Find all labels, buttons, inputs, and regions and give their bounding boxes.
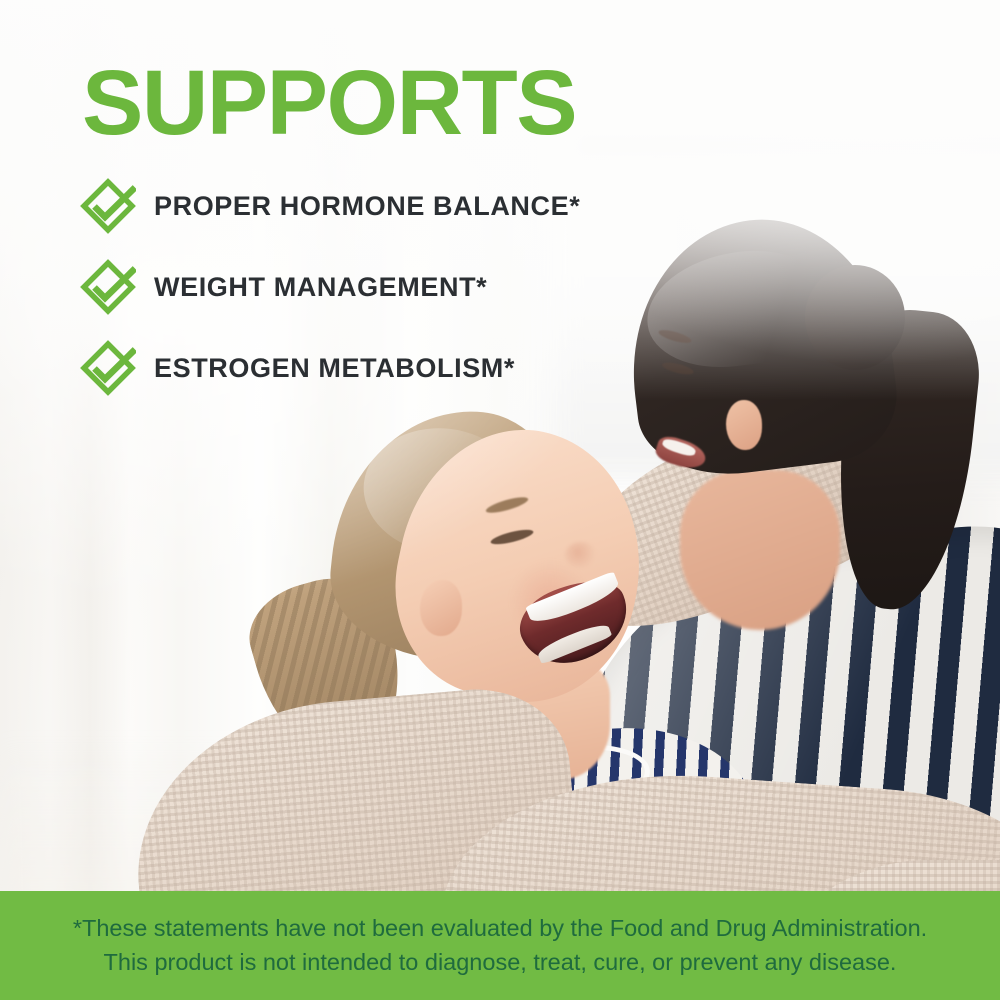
- benefit-label: PROPER HORMONE BALANCE*: [154, 191, 580, 222]
- benefits-list: PROPER HORMONE BALANCE* WEIGHT MANAGEMEN…: [80, 178, 580, 396]
- green-diamond-check-icon: [80, 259, 136, 315]
- product-benefits-banner: SUPPORTS PROPER HORMONE BALANCE* WEIGHT …: [0, 0, 1000, 1000]
- benefit-item-estrogen-metabolism: ESTROGEN METABOLISM*: [80, 340, 580, 396]
- page-title: SUPPORTS: [82, 57, 576, 149]
- fda-disclaimer-bar: *These statements have not been evaluate…: [0, 891, 1000, 1000]
- green-diamond-check-icon: [80, 178, 136, 234]
- benefit-item-proper-hormone-balance: PROPER HORMONE BALANCE*: [80, 178, 580, 234]
- disclaimer-line-1: *These statements have not been evaluate…: [73, 914, 927, 943]
- benefit-label: ESTROGEN METABOLISM*: [154, 353, 515, 384]
- green-diamond-check-icon: [80, 340, 136, 396]
- benefit-label: WEIGHT MANAGEMENT*: [154, 272, 487, 303]
- disclaimer-line-2: This product is not intended to diagnose…: [104, 948, 897, 977]
- benefit-item-weight-management: WEIGHT MANAGEMENT*: [80, 259, 580, 315]
- text-overlay: SUPPORTS PROPER HORMONE BALANCE* WEIGHT …: [0, 0, 1000, 1000]
